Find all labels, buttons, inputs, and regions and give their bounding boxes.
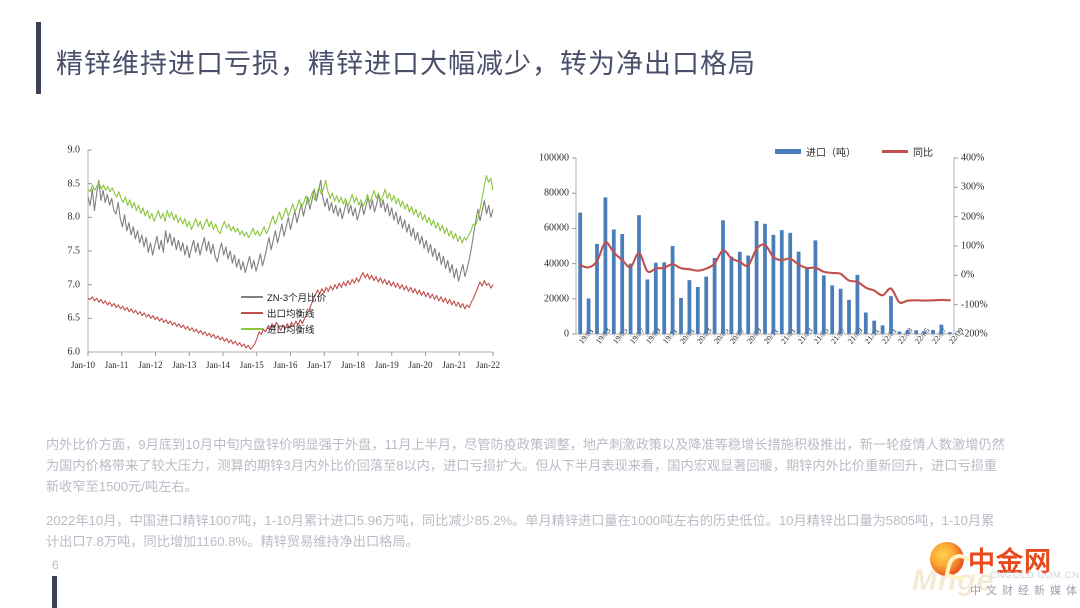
- import-bar: [805, 269, 809, 334]
- legend-item-yoy: 同比: [882, 144, 933, 159]
- legend-swatch-zn-ratio: [241, 296, 263, 299]
- body-paragraph-2: 2022年10月，中国进口精锌1007吨，1-10月累计进口5.96万吨，同比减…: [46, 510, 1006, 552]
- charts-container: 6.06.57.07.58.08.59.0 Jan-10Jan-11Jan-12…: [0, 140, 1080, 405]
- legend-label-import-volume: 进口（吨）: [806, 144, 856, 159]
- import-bar: [679, 298, 683, 334]
- import-bar: [872, 321, 876, 334]
- zinc-ratio-chart: 6.06.57.07.58.08.59.0 Jan-10Jan-11Jan-12…: [46, 140, 501, 390]
- legend-swatch-import-line: [241, 328, 263, 331]
- logo-tagline-text: 中文财经新媒体: [970, 582, 1080, 598]
- right-chart-plot: [530, 140, 1000, 390]
- import-bar: [746, 256, 750, 335]
- import-bar: [914, 330, 918, 334]
- import-bar: [847, 300, 851, 334]
- import-bar: [906, 330, 910, 334]
- import-bar: [931, 330, 935, 334]
- body-paragraph-1: 内外比价方面，9月底到10月中旬内盘锌价明显强于外盘，11月上半月，尽管防疫政策…: [46, 434, 1006, 497]
- import-bar: [713, 258, 717, 334]
- import-bar: [578, 213, 582, 334]
- import-bar: [704, 277, 708, 334]
- legend-label-yoy: 同比: [913, 144, 933, 159]
- left-chart-legend: ZN-3个月比价 出口均衡线 进口均衡线: [241, 290, 326, 338]
- import-bar: [940, 325, 944, 334]
- import-bar: [763, 224, 767, 334]
- import-bar: [662, 262, 666, 334]
- import-bar: [755, 221, 759, 334]
- page-title: 精锌维持进口亏损，精锌进口大幅减少，转为净出口格局: [56, 42, 756, 81]
- import-bar: [629, 264, 633, 334]
- import-bar: [738, 252, 742, 334]
- title-accent-bar: [36, 22, 41, 94]
- import-bar: [772, 235, 776, 334]
- legend-swatch-yoy: [882, 150, 908, 153]
- left-chart-plot: [46, 140, 501, 390]
- import-bar: [780, 230, 784, 334]
- legend-item-export-line: 出口均衡线: [241, 306, 326, 320]
- import-bar: [814, 240, 818, 334]
- slide-root: 精锌维持进口亏损，精锌进口大幅减少，转为净出口格局 6.06.57.07.58.…: [0, 0, 1080, 608]
- legend-label-export-line: 出口均衡线: [267, 306, 315, 320]
- page-number-accent-bar: [52, 576, 57, 608]
- legend-item-zn-ratio: ZN-3个月比价: [241, 290, 326, 304]
- left-chart-series-0: [88, 180, 493, 281]
- page-number: 6: [52, 558, 59, 572]
- import-bar: [620, 234, 624, 334]
- import-bar: [671, 246, 675, 334]
- legend-item-import-volume: 进口（吨）: [775, 144, 856, 159]
- zinc-import-chart: 020000400006000080000100000 -200%-100%0%…: [530, 140, 1000, 390]
- legend-label-import-line: 进口均衡线: [267, 322, 315, 336]
- watermark-logo: Mnge 中金网 CNGOLD.COM.CN 中文财经新媒体: [922, 538, 1080, 608]
- right-chart-legend: 进口（吨） 同比: [775, 144, 933, 159]
- import-bar: [923, 331, 927, 334]
- legend-swatch-export-line: [241, 312, 263, 315]
- import-bar: [604, 197, 608, 334]
- import-bar: [822, 275, 826, 334]
- import-bar: [646, 279, 650, 334]
- import-bar: [889, 296, 893, 334]
- import-bar: [637, 215, 641, 334]
- logo-circle-icon: [930, 542, 964, 576]
- import-bar: [696, 287, 700, 334]
- import-bar: [839, 289, 843, 334]
- legend-swatch-import-volume: [775, 149, 801, 154]
- import-bar: [830, 285, 834, 334]
- left-chart-series-2: [88, 176, 493, 243]
- import-bar: [612, 229, 616, 334]
- import-bar: [898, 332, 902, 334]
- import-bar: [654, 263, 658, 334]
- import-bar: [587, 298, 591, 334]
- import-bar: [721, 220, 725, 334]
- import-bar: [881, 325, 885, 334]
- legend-item-import-line: 进口均衡线: [241, 322, 326, 336]
- legend-label-zn-ratio: ZN-3个月比价: [267, 290, 326, 304]
- import-bar: [688, 280, 692, 334]
- import-bar: [864, 313, 868, 334]
- import-bar: [788, 233, 792, 334]
- logo-url-text: CNGOLD.COM.CN: [990, 570, 1080, 581]
- import-bar: [948, 332, 952, 334]
- import-bar: [730, 257, 734, 334]
